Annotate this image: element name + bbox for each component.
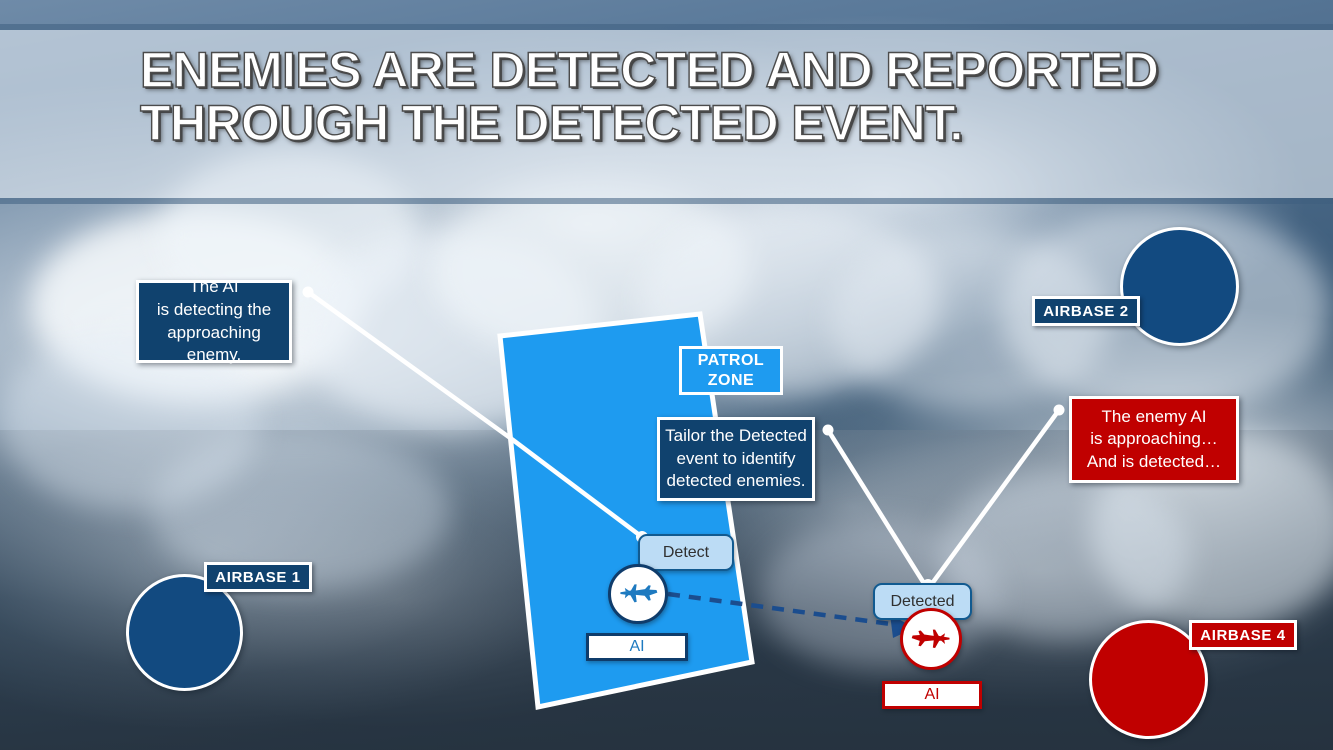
airbase-2-circle[interactable] [1120,227,1239,346]
enemy-jet-label-text: AI [924,686,939,704]
patrol-zone-label: PATROL ZONE [698,351,764,390]
callout-tailor-detected-text: Tailor the Detected event to identify de… [665,425,807,493]
friendly-jet-unit[interactable] [608,564,668,624]
callout-tailor-detected[interactable]: Tailor the Detected event to identify de… [657,417,815,501]
fighter-jet-icon [616,572,660,616]
event-detected-label: Detected [890,593,954,611]
title-band-bottom-rule [0,198,1333,204]
event-detect-label: Detect [663,544,709,562]
airbase-1-label: AIRBASE 1 [215,569,300,586]
event-pill-detect[interactable]: Detect [638,534,734,571]
friendly-jet-label-text: AI [629,638,644,656]
airbase-4-tag[interactable]: AIRBASE 4 [1189,620,1297,650]
airbase-2-tag[interactable]: AIRBASE 2 [1032,296,1140,326]
page-title: Enemies are detected and reported throug… [140,44,1260,150]
callout-enemy-approaching[interactable]: The enemy AI is approaching… And is dete… [1069,396,1239,483]
fighter-jet-icon [909,617,954,662]
slide-canvas: Enemies are detected and reported throug… [0,0,1333,750]
enemy-jet-label[interactable]: AI [882,681,982,709]
callout-ai-detecting-text: The AI is detecting the approaching enem… [139,276,289,366]
enemy-jet-unit[interactable] [900,608,962,670]
callout-ai-detecting[interactable]: The AI is detecting the approaching enem… [136,280,292,363]
callout-enemy-approaching-text: The enemy AI is approaching… And is dete… [1087,406,1221,474]
airbase-4-label: AIRBASE 4 [1200,627,1285,644]
friendly-jet-label[interactable]: AI [586,633,688,661]
airbase-1-tag[interactable]: AIRBASE 1 [204,562,312,592]
patrol-zone-tag[interactable]: PATROL ZONE [679,346,783,395]
airbase-2-label: AIRBASE 2 [1043,303,1128,320]
